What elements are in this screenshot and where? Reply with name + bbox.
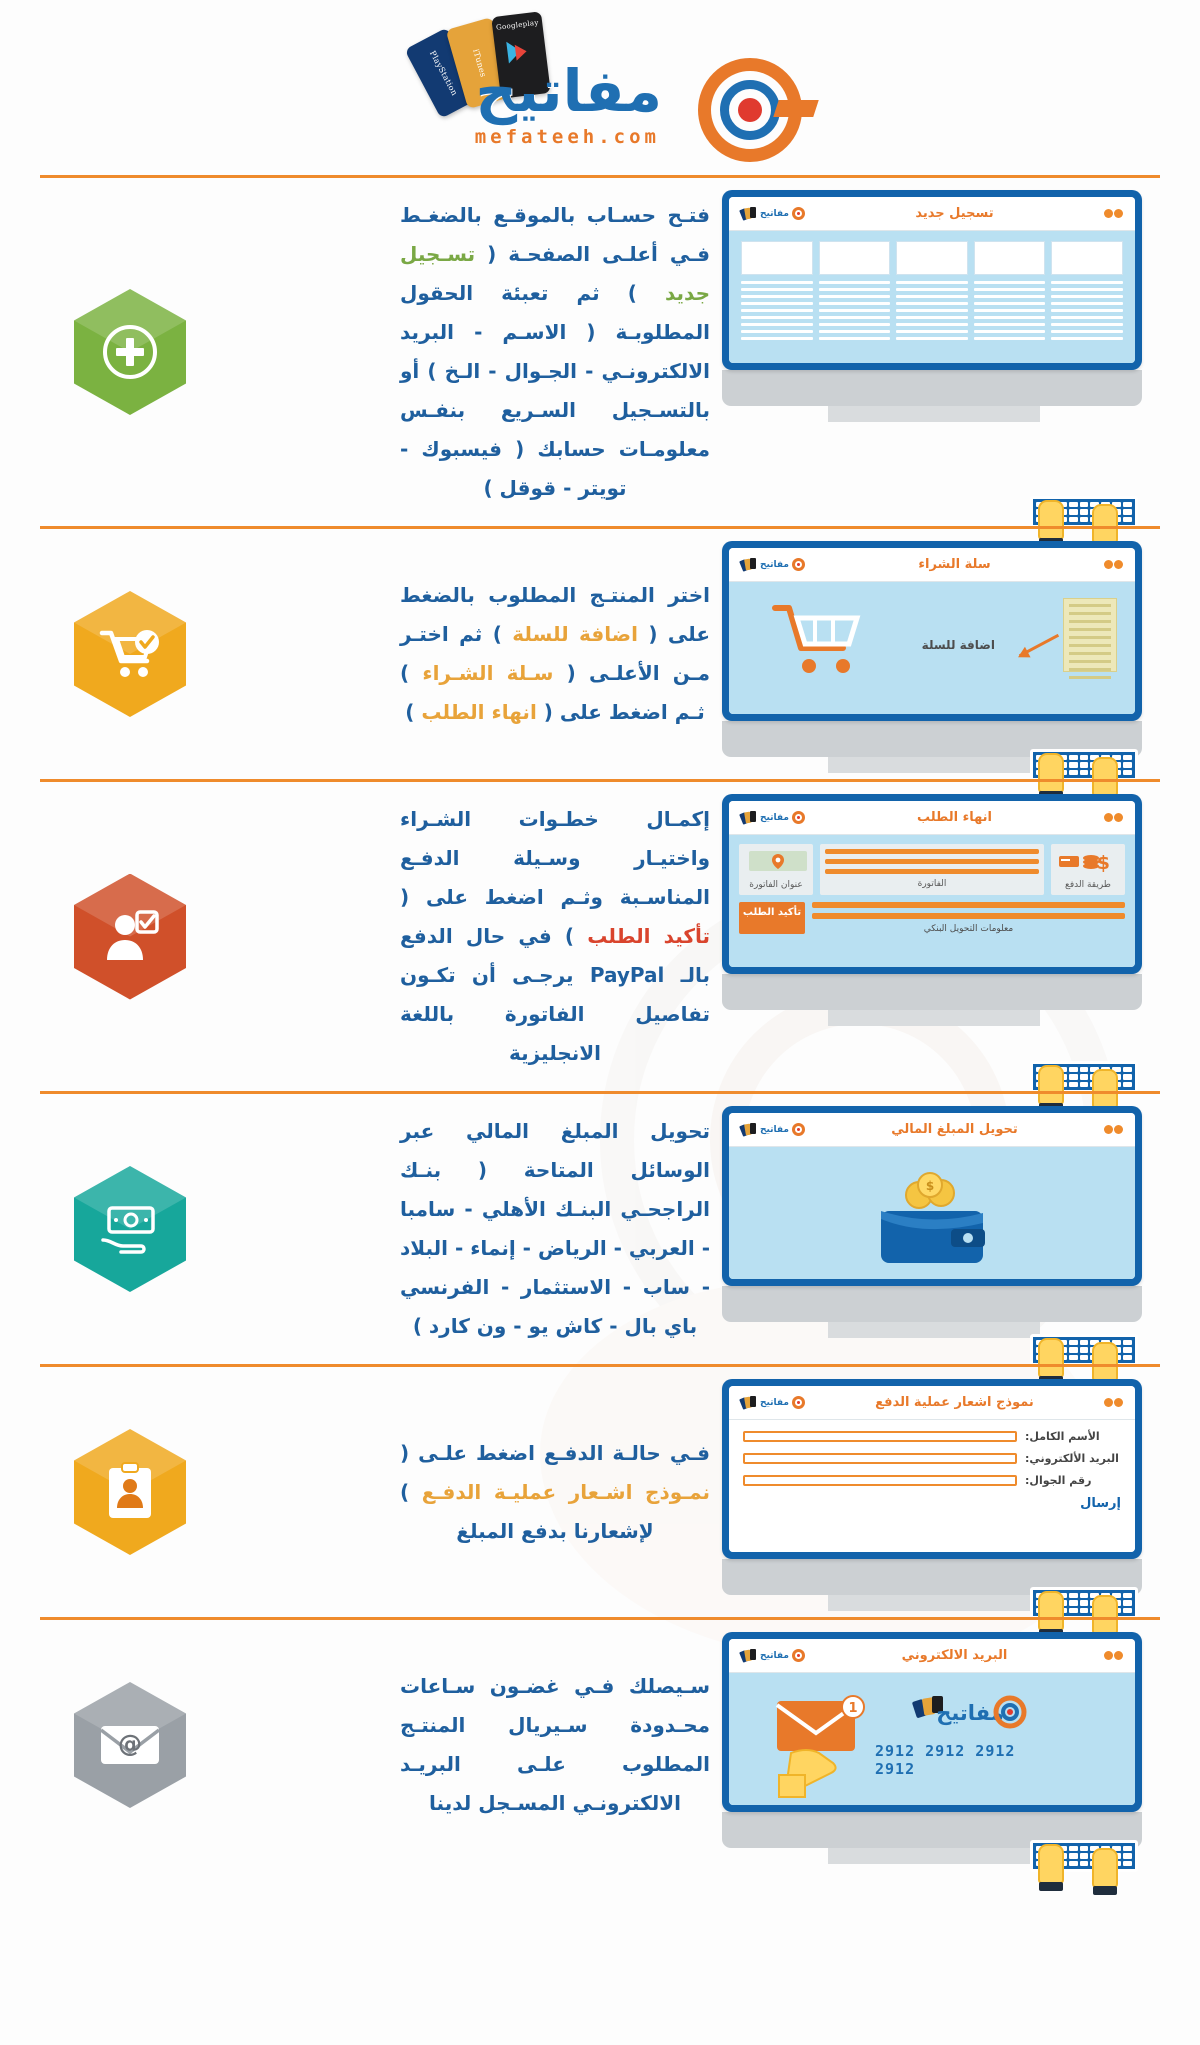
mini-brand-logo: مفاتيح (741, 1649, 805, 1662)
bank-transfer-note: معلومات التحويل البنكي (812, 924, 1125, 934)
screen-body-5: الأسم الكامل: البريد الألكتروني: رقم الج… (729, 1420, 1135, 1552)
window-dots-icon (1104, 1398, 1123, 1407)
step-row-1: تسجيل جديد مفاتيح (40, 175, 1160, 526)
screen-body-2: اضافة للسلة (729, 582, 1135, 714)
fullname-input[interactable] (743, 1431, 1017, 1442)
step-2-instruction: اختر المنتـج المطلوب بالضغط على ( اضافة … (220, 529, 720, 779)
step-5-instruction: فـي حالـة الدفـع اضغط علـى ( نمـوذج اشـع… (220, 1367, 720, 1617)
step-2-badge (40, 529, 220, 779)
form-row: البريد الألكتروني: (743, 1452, 1121, 1465)
screen: تسجيل جديد مفاتيح (729, 197, 1135, 363)
screen: انهاء الطلب مفاتيح (729, 801, 1135, 967)
mini-brand-name: مفاتيح (760, 1398, 789, 1408)
confirm-order-button[interactable]: تأكيد الطلب (739, 902, 805, 934)
cash-hand-icon-badge (74, 1166, 186, 1292)
svg-text:@: @ (118, 1730, 142, 1758)
payment-icons: $ (1058, 849, 1120, 873)
step-4-badge (40, 1094, 220, 1364)
window-dots-icon (1104, 209, 1123, 218)
clipboard-user-icon (105, 1462, 155, 1522)
screen-title-6: البريد الالكتروني (902, 1648, 1008, 1663)
payment-method-label: طريقة الدفع (1056, 880, 1120, 890)
step-3-instruction: إكمـال خطـوات الشـراء واختيـار وسـيلة ال… (220, 782, 720, 1091)
email-input[interactable] (743, 1453, 1017, 1464)
monitor-base (828, 1010, 1040, 1026)
brand-url: mefateeh.com (475, 126, 660, 148)
mini-brand-logo: مفاتيح (741, 1396, 805, 1409)
product-document-icon (1063, 598, 1117, 672)
screen-title-1: تسجيل جديد (915, 206, 993, 221)
mini-ring-icon (792, 1649, 805, 1662)
window-dots-icon (1104, 813, 1123, 822)
shopping-cart-icon (769, 600, 865, 680)
mini-brand-name: مفاتيح (760, 1651, 789, 1661)
mini-brand-logo: مفاتيح (741, 1123, 805, 1136)
clipboard-user-icon-badge (74, 1429, 186, 1555)
step-1-badge (40, 178, 220, 526)
step-5-mockup: نموذج اشعار عملية الدفع مفاتيح الأسم الك… (720, 1367, 1160, 1617)
checkout-columns: $ طريقة الدفع الفاتورة (739, 844, 1125, 895)
brand-logo: PlayStation iTunes Googleplay مفاتيح mef… (390, 8, 810, 173)
monitor-frame: انهاء الطلب مفاتيح (722, 794, 1142, 974)
monitor-base (828, 757, 1040, 773)
screen-body-4: $ (729, 1147, 1135, 1279)
monitor-frame: البريد الالكتروني مفاتيح (722, 1632, 1142, 1812)
screen-title-3: انهاء الطلب (917, 810, 992, 825)
monitor-base (828, 406, 1040, 422)
mini-cards-icon (741, 207, 757, 220)
monitor-stand (722, 1286, 1142, 1322)
screen-body-1 (729, 231, 1135, 363)
field-label-mobile: رقم الجوال: (1025, 1474, 1121, 1487)
window-dots-icon (1104, 560, 1123, 569)
mini-brand-name: مفاتيح (760, 560, 789, 570)
field-label-email: البريد الألكتروني: (1025, 1452, 1121, 1465)
form-column (896, 241, 968, 344)
monitor-stand (722, 974, 1142, 1010)
map-pin-icon (748, 849, 808, 873)
infographic-page: PlayStation iTunes Googleplay مفاتيح mef… (0, 0, 1200, 1870)
monitor-base (828, 1848, 1040, 1864)
mini-brand-name: مفاتيح (760, 1125, 789, 1135)
step-6-instruction: سـيصلك فـي غضـون سـاعات محـدودة سـيريال … (220, 1620, 720, 1870)
screen-title-4: تحويل المبلغ المالي (891, 1122, 1017, 1137)
wallet-money-icon: $ (867, 1169, 997, 1269)
monitor-frame: تحويل المبلغ المالي مفاتيح $ (722, 1106, 1142, 1286)
invoice-cell: الفاتورة (820, 844, 1044, 895)
mini-brand-name: مفاتيح (760, 813, 789, 823)
screen: سلة الشراء مفاتيح اضافة للسلة (729, 548, 1135, 714)
mini-brand-logo: مفاتيح (741, 207, 805, 220)
plus-icon (103, 325, 157, 379)
registration-form-columns (729, 231, 1135, 344)
billing-address-label: عنوان الفاتورة (744, 880, 808, 890)
gift-card-number: 2912 2912 2912 2912 (875, 1742, 1065, 1778)
user-check-icon (101, 908, 159, 966)
mini-ring-icon (792, 558, 805, 571)
instruction-text-4: تحويل المبلغ المالي عبر الوسائل المتاحة … (400, 1112, 710, 1346)
window-dots-icon (1104, 1125, 1123, 1134)
screen-body-6: مفاتيح 2912 2912 2912 2912 1 (729, 1673, 1135, 1805)
field-label-fullname: الأسم الكامل: (1025, 1430, 1121, 1443)
step-6-mockup: البريد الالكتروني مفاتيح (720, 1620, 1160, 1870)
mini-cards-icon (741, 558, 757, 571)
gift-card-preview: مفاتيح 2912 2912 2912 2912 (875, 1687, 1065, 1783)
logo-center-dot-icon (738, 98, 762, 122)
mini-cards-icon (741, 1649, 757, 1662)
screen: البريد الالكتروني مفاتيح (729, 1639, 1135, 1805)
screen-titlebar: تحويل المبلغ المالي مفاتيح (729, 1113, 1135, 1147)
step-2-mockup: سلة الشراء مفاتيح اضافة للسلة (720, 529, 1160, 779)
monitor-stand (722, 370, 1142, 406)
step-row-5: نموذج اشعار عملية الدفع مفاتيح الأسم الك… (40, 1364, 1160, 1617)
pointer-arrow-icon (1019, 634, 1059, 657)
instruction-text-3: إكمـال خطـوات الشـراء واختيـار وسـيلة ال… (400, 800, 710, 1073)
step-1-mockup: تسجيل جديد مفاتيح (720, 178, 1160, 526)
monitor-frame: نموذج اشعار عملية الدفع مفاتيح الأسم الك… (722, 1379, 1142, 1559)
mini-brand-logo: مفاتيح (741, 811, 805, 824)
page-header: PlayStation iTunes Googleplay مفاتيح mef… (0, 0, 1200, 175)
instruction-text-5: فـي حالـة الدفـع اضغط علـى ( نمـوذج اشـع… (400, 1434, 710, 1551)
mini-cards-icon (741, 811, 757, 824)
step-4-instruction: تحويل المبلغ المالي عبر الوسائل المتاحة … (220, 1094, 720, 1364)
email-hand-icon: 1 (765, 1695, 885, 1799)
screen-body-3: $ طريقة الدفع الفاتورة (729, 835, 1135, 967)
screen: نموذج اشعار عملية الدفع مفاتيح الأسم الك… (729, 1386, 1135, 1552)
hand-icon (1038, 1844, 1064, 1884)
mobile-input[interactable] (743, 1475, 1017, 1486)
step-row-4: تحويل المبلغ المالي مفاتيح $ (40, 1091, 1160, 1364)
form-column (741, 241, 813, 344)
monitor-base (828, 1322, 1040, 1338)
form-column (819, 241, 891, 344)
screen-title-5: نموذج اشعار عملية الدفع (875, 1395, 1034, 1410)
monitor-base (828, 1595, 1040, 1611)
step-3-badge (40, 782, 220, 1091)
screen-titlebar: نموذج اشعار عملية الدفع مفاتيح (729, 1386, 1135, 1420)
mini-ring-icon (792, 1396, 805, 1409)
step-4-mockup: تحويل المبلغ المالي مفاتيح $ (720, 1094, 1160, 1364)
plus-icon-badge (74, 289, 186, 415)
invoice-label: الفاتورة (825, 879, 1039, 889)
svg-text:$: $ (926, 1179, 934, 1193)
mini-cards-icon (741, 1396, 757, 1409)
monitor-frame: سلة الشراء مفاتيح اضافة للسلة (722, 541, 1142, 721)
form-row: الأسم الكامل: (743, 1430, 1121, 1443)
step-3-mockup: انهاء الطلب مفاتيح (720, 782, 1160, 1091)
notification-count: 1 (848, 1701, 857, 1716)
cart-check-icon-badge (74, 591, 186, 717)
mini-ring-icon (792, 811, 805, 824)
submit-button[interactable]: إرسال (743, 1496, 1121, 1511)
mini-cards-icon (741, 1123, 757, 1136)
brand-logo-small-icon: مفاتيح (912, 1692, 1028, 1738)
svg-text:$: $ (1097, 852, 1110, 873)
mini-ring-icon (792, 207, 805, 220)
step-row-6: البريد الالكتروني مفاتيح (40, 1617, 1160, 1870)
instruction-text-1: فتـح حسـاب بالموقـع بالضغـط فـي أعلـى ال… (400, 196, 710, 508)
step-5-badge (40, 1367, 220, 1617)
screen-title-2: سلة الشراء (918, 557, 990, 572)
screen-titlebar: البريد الالكتروني مفاتيح (729, 1639, 1135, 1673)
cash-hand-icon (99, 1202, 161, 1256)
instruction-text-6: سـيصلك فـي غضـون سـاعات محـدودة سـيريال … (400, 1667, 710, 1823)
monitor-frame: تسجيل جديد مفاتيح (722, 190, 1142, 370)
logo-artwork: مفاتيح mefateeh.com (430, 56, 810, 156)
mini-ring-icon (792, 1123, 805, 1136)
screen: تحويل المبلغ المالي مفاتيح $ (729, 1113, 1135, 1279)
logo-swoosh-icon (773, 100, 819, 117)
screen-titlebar: سلة الشراء مفاتيح (729, 548, 1135, 582)
cart-check-icon (99, 627, 161, 681)
screen-titlebar: تسجيل جديد مفاتيح (729, 197, 1135, 231)
step-6-badge: @ (40, 1620, 220, 1870)
step-row-2: سلة الشراء مفاتيح اضافة للسلة (40, 526, 1160, 779)
brand-name-arabic: مفاتيح (475, 62, 662, 120)
add-to-cart-label: اضافة للسلة (922, 638, 995, 652)
form-column (974, 241, 1046, 344)
step-1-instruction: فتـح حسـاب بالموقـع بالضغـط فـي أعلـى ال… (220, 178, 720, 526)
email-at-icon-badge: @ (74, 1682, 186, 1808)
hand-icon (1092, 1848, 1118, 1888)
email-at-icon: @ (99, 1720, 161, 1770)
form-row: رقم الجوال: (743, 1474, 1121, 1487)
step-row-3: انهاء الطلب مفاتيح (40, 779, 1160, 1091)
form-column (1051, 241, 1123, 344)
user-check-icon-badge (74, 874, 186, 1000)
payment-method-cell: $ طريقة الدفع (1051, 844, 1125, 895)
billing-address-cell: عنوان الفاتورة (739, 844, 813, 895)
window-dots-icon (1104, 1651, 1123, 1660)
confirm-row: معلومات التحويل البنكي تأكيد الطلب (739, 902, 1125, 934)
instruction-text-2: اختر المنتـج المطلوب بالضغط على ( اضافة … (400, 576, 710, 732)
screen-titlebar: انهاء الطلب مفاتيح (729, 801, 1135, 835)
mini-brand-name: مفاتيح (760, 209, 789, 219)
mini-brand-logo: مفاتيح (741, 558, 805, 571)
